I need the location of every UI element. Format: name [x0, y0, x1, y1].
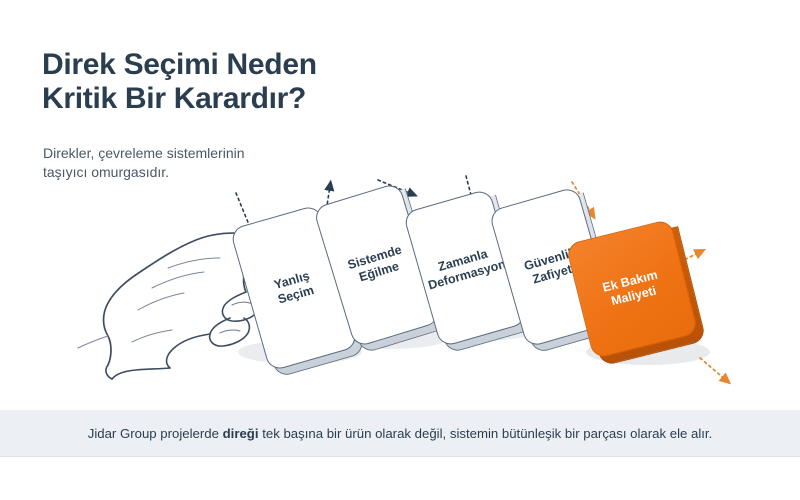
summary-banner: Jidar Group projelerde direği tek başına… [0, 410, 800, 456]
summary-banner-text: Jidar Group projelerde direği tek başına… [88, 425, 713, 442]
banner-lead: Jidar Group projelerde [88, 426, 223, 441]
card-label: Yanlış Seçim [266, 267, 321, 309]
infographic-canvas: Direk Seçimi Neden Kritik Bir Karardır? … [0, 0, 800, 500]
card-label: Ek Bakım Maliyeti [595, 266, 669, 312]
arrow-orange-down [700, 358, 726, 380]
banner-divider [0, 456, 800, 457]
card-label: Sistemde Eğilme [340, 241, 413, 289]
banner-bold-term: direği [223, 426, 259, 441]
banner-tail: tek başına bir ürün olarak değil, sistem… [259, 426, 713, 441]
domino-illustration: Yanlış Seçim Sistemde Eğilme Zamanla Def… [0, 0, 800, 410]
